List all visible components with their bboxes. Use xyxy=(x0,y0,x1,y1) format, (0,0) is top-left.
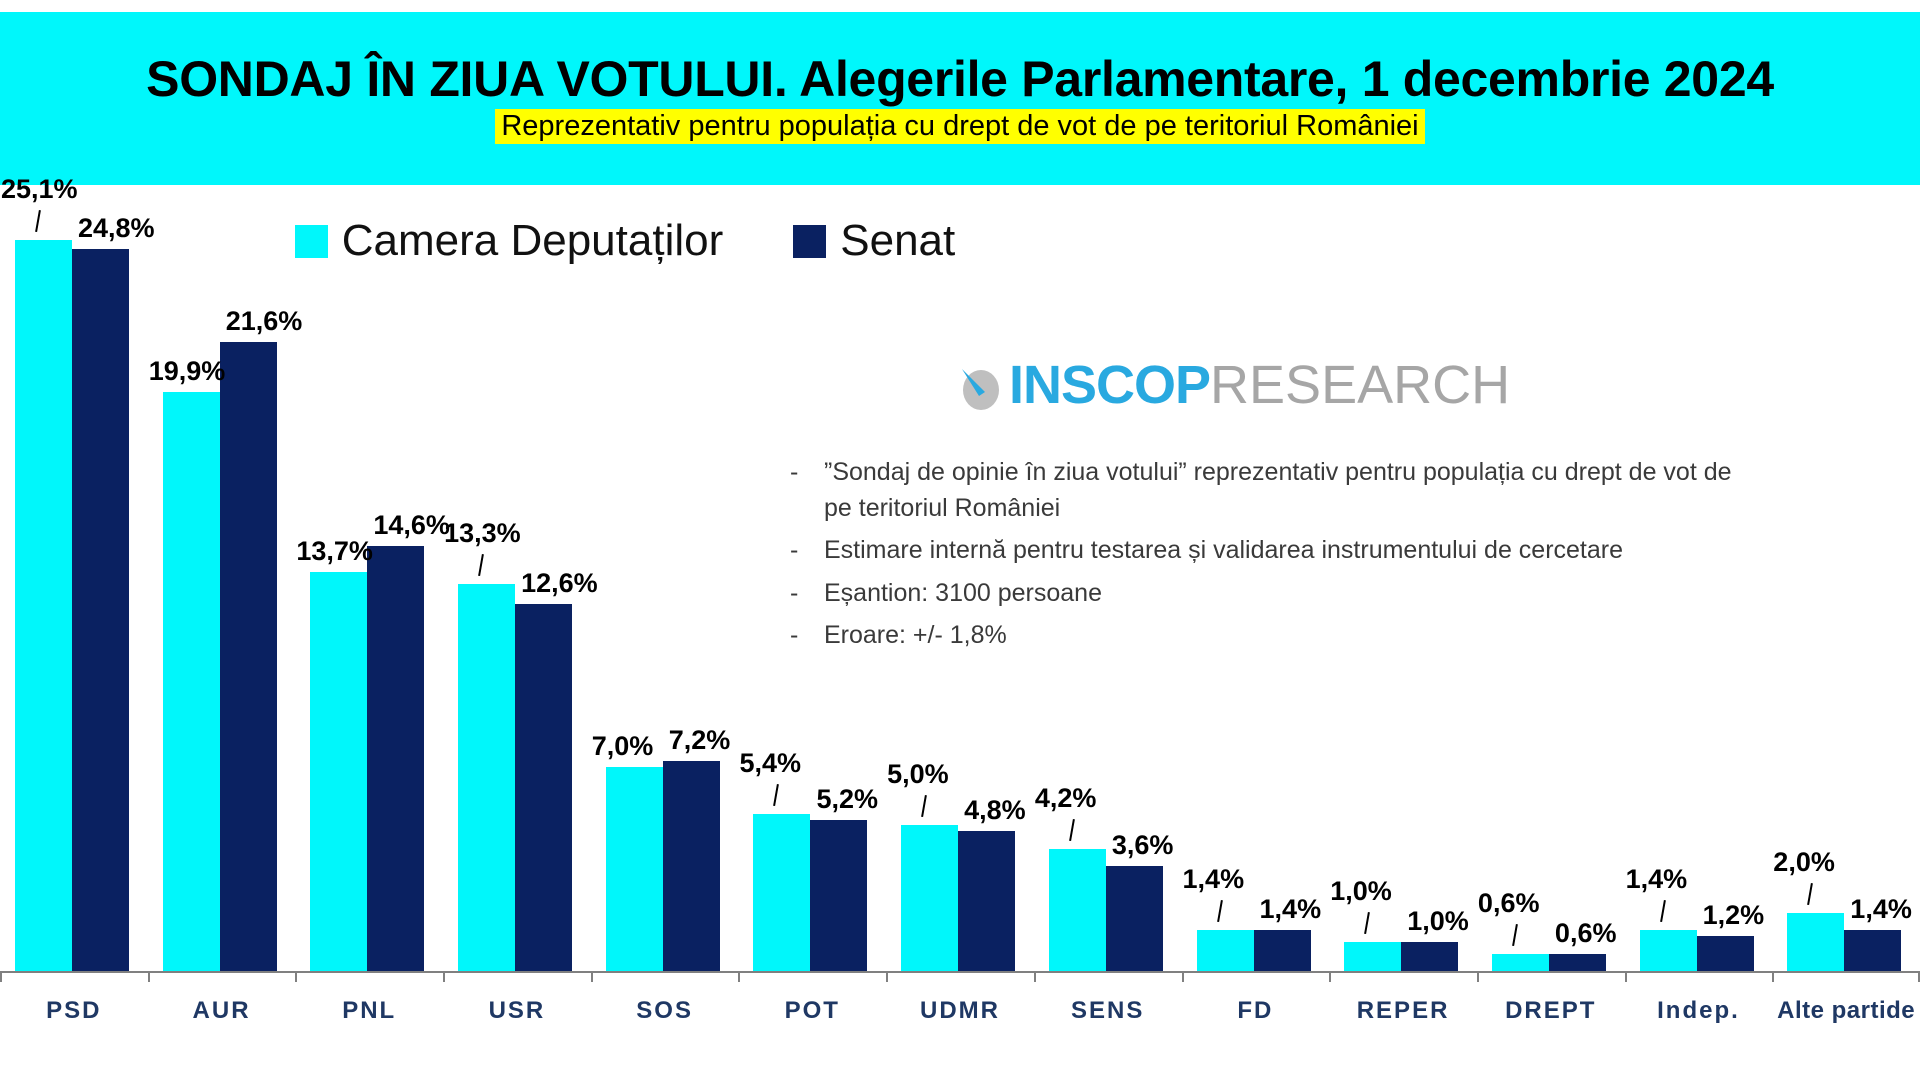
bar-value-label: 5,2% xyxy=(816,786,878,813)
label-leader-line xyxy=(1512,924,1517,946)
bar-value-label: 13,7% xyxy=(296,538,373,565)
bar-group: 1,4%1,2% xyxy=(1625,185,1773,971)
bar-group: 4,2%3,6% xyxy=(1034,185,1182,971)
bar-group: 2,0%1,4% xyxy=(1772,185,1920,971)
x-axis-tick xyxy=(443,971,445,982)
x-axis-tick xyxy=(1034,971,1036,982)
x-axis-tick xyxy=(295,971,297,982)
label-leader-line xyxy=(478,554,483,576)
bar-group: 19,9%21,6% xyxy=(148,185,296,971)
x-axis-label: FD xyxy=(1182,997,1330,1025)
bar-value-label: 1,0% xyxy=(1330,878,1392,905)
bar-value-label: 0,6% xyxy=(1478,890,1540,917)
label-leader-line xyxy=(1217,900,1222,922)
x-axis-label: POT xyxy=(738,997,886,1025)
bar-senat[interactable] xyxy=(1401,942,1458,971)
bar-value-label: 12,6% xyxy=(521,570,598,597)
bar-camera-deputatilor[interactable] xyxy=(1787,913,1844,971)
x-axis-tick xyxy=(0,971,2,982)
label-leader-line xyxy=(1807,883,1812,905)
bar-senat[interactable] xyxy=(367,546,424,971)
bar-group: 1,4%1,4% xyxy=(1182,185,1330,971)
bar-senat[interactable] xyxy=(1106,866,1163,971)
bar-camera-deputatilor[interactable] xyxy=(606,767,663,971)
bar-value-label: 24,8% xyxy=(78,215,155,242)
bar-senat[interactable] xyxy=(663,761,720,971)
x-axis-tick xyxy=(591,971,593,982)
bar-value-label: 2,0% xyxy=(1773,849,1835,876)
bar-senat[interactable] xyxy=(958,831,1015,971)
bar-group: 5,4%5,2% xyxy=(738,185,886,971)
bar-camera-deputatilor[interactable] xyxy=(15,240,72,971)
bar-group: 0,6%0,6% xyxy=(1477,185,1625,971)
x-axis-tick xyxy=(738,971,740,982)
x-axis-label: SENS xyxy=(1034,997,1182,1025)
bar-senat[interactable] xyxy=(1254,930,1311,971)
bar-senat[interactable] xyxy=(1844,930,1901,971)
x-axis-line xyxy=(0,971,1920,973)
bar-value-label: 14,6% xyxy=(373,512,450,539)
bar-senat[interactable] xyxy=(72,249,129,971)
plot-area: 25,1%24,8%19,9%21,6%13,7%14,6%13,3%12,6%… xyxy=(0,185,1920,971)
x-axis-label: DREPT xyxy=(1477,997,1625,1025)
x-axis-labels: PSDAURPNLUSRSOSPOTUDMRSENSFDREPERDREPTIn… xyxy=(0,987,1920,1047)
bar-value-label: 5,0% xyxy=(887,761,949,788)
bar-camera-deputatilor[interactable] xyxy=(458,584,515,971)
bar-value-label: 1,0% xyxy=(1407,908,1469,935)
header-banner: SONDAJ ÎN ZIUA VOTULUI. Alegerile Parlam… xyxy=(0,12,1920,185)
label-leader-line xyxy=(1069,819,1074,841)
x-axis-label: AUR xyxy=(148,997,296,1025)
bar-value-label: 13,3% xyxy=(444,520,521,547)
bar-value-label: 7,0% xyxy=(592,733,654,760)
x-axis-label: Alte partide xyxy=(1772,997,1920,1025)
x-axis-label: SOS xyxy=(591,997,739,1025)
bar-camera-deputatilor[interactable] xyxy=(1492,954,1549,971)
x-axis-label: PSD xyxy=(0,997,148,1025)
x-axis-tick xyxy=(1182,971,1184,982)
label-leader-line xyxy=(35,210,40,232)
x-axis-tick xyxy=(1477,971,1479,982)
x-axis-tick xyxy=(1625,971,1627,982)
bar-value-label: 1,4% xyxy=(1850,896,1912,923)
bar-value-label: 5,4% xyxy=(739,750,801,777)
bar-camera-deputatilor[interactable] xyxy=(1197,930,1254,971)
bar-value-label: 1,4% xyxy=(1183,866,1245,893)
x-axis-label: USR xyxy=(443,997,591,1025)
bar-group: 13,7%14,6% xyxy=(295,185,443,971)
x-axis-label: REPER xyxy=(1329,997,1477,1025)
label-leader-line xyxy=(921,795,926,817)
label-leader-line xyxy=(1660,900,1665,922)
bar-value-label: 1,4% xyxy=(1626,866,1688,893)
bar-value-label: 0,6% xyxy=(1555,920,1617,947)
bar-camera-deputatilor[interactable] xyxy=(163,392,220,971)
x-axis-label: Indep. xyxy=(1625,997,1773,1025)
x-axis-tick xyxy=(1329,971,1331,982)
bar-camera-deputatilor[interactable] xyxy=(1344,942,1401,971)
bar-value-label: 25,1% xyxy=(1,176,78,203)
bar-senat[interactable] xyxy=(1549,954,1606,971)
label-leader-line xyxy=(774,784,779,806)
bar-group: 13,3%12,6% xyxy=(443,185,591,971)
bar-value-label: 19,9% xyxy=(149,358,226,385)
bar-group: 5,0%4,8% xyxy=(886,185,1034,971)
x-axis-tick xyxy=(1772,971,1774,982)
bar-camera-deputatilor[interactable] xyxy=(1049,849,1106,971)
x-axis-label: UDMR xyxy=(886,997,1034,1025)
bar-group: 7,0%7,2% xyxy=(591,185,739,971)
bar-chart: 25,1%24,8%19,9%21,6%13,7%14,6%13,3%12,6%… xyxy=(0,185,1920,1080)
page-title: SONDAJ ÎN ZIUA VOTULUI. Alegerile Parlam… xyxy=(146,53,1774,106)
bar-value-label: 4,2% xyxy=(1035,785,1097,812)
bar-senat[interactable] xyxy=(810,820,867,971)
bar-value-label: 3,6% xyxy=(1112,832,1174,859)
bar-value-label: 21,6% xyxy=(226,308,303,335)
bar-value-label: 1,2% xyxy=(1703,902,1765,929)
bar-senat[interactable] xyxy=(1697,936,1754,971)
label-leader-line xyxy=(1364,912,1369,934)
page-subtitle: Reprezentativ pentru populația cu drept … xyxy=(495,109,1424,144)
bar-value-label: 4,8% xyxy=(964,797,1026,824)
bar-camera-deputatilor[interactable] xyxy=(901,825,958,971)
x-axis-tick xyxy=(886,971,888,982)
bar-group: 25,1%24,8% xyxy=(0,185,148,971)
bar-camera-deputatilor[interactable] xyxy=(753,814,810,971)
bar-group: 1,0%1,0% xyxy=(1329,185,1477,971)
bar-senat[interactable] xyxy=(515,604,572,971)
x-axis-label: PNL xyxy=(295,997,443,1025)
bar-camera-deputatilor[interactable] xyxy=(1640,930,1697,971)
bar-camera-deputatilor[interactable] xyxy=(310,572,367,971)
bar-value-label: 7,2% xyxy=(669,727,731,754)
bar-value-label: 1,4% xyxy=(1260,896,1322,923)
x-axis-tick xyxy=(148,971,150,982)
bar-senat[interactable] xyxy=(220,342,277,971)
